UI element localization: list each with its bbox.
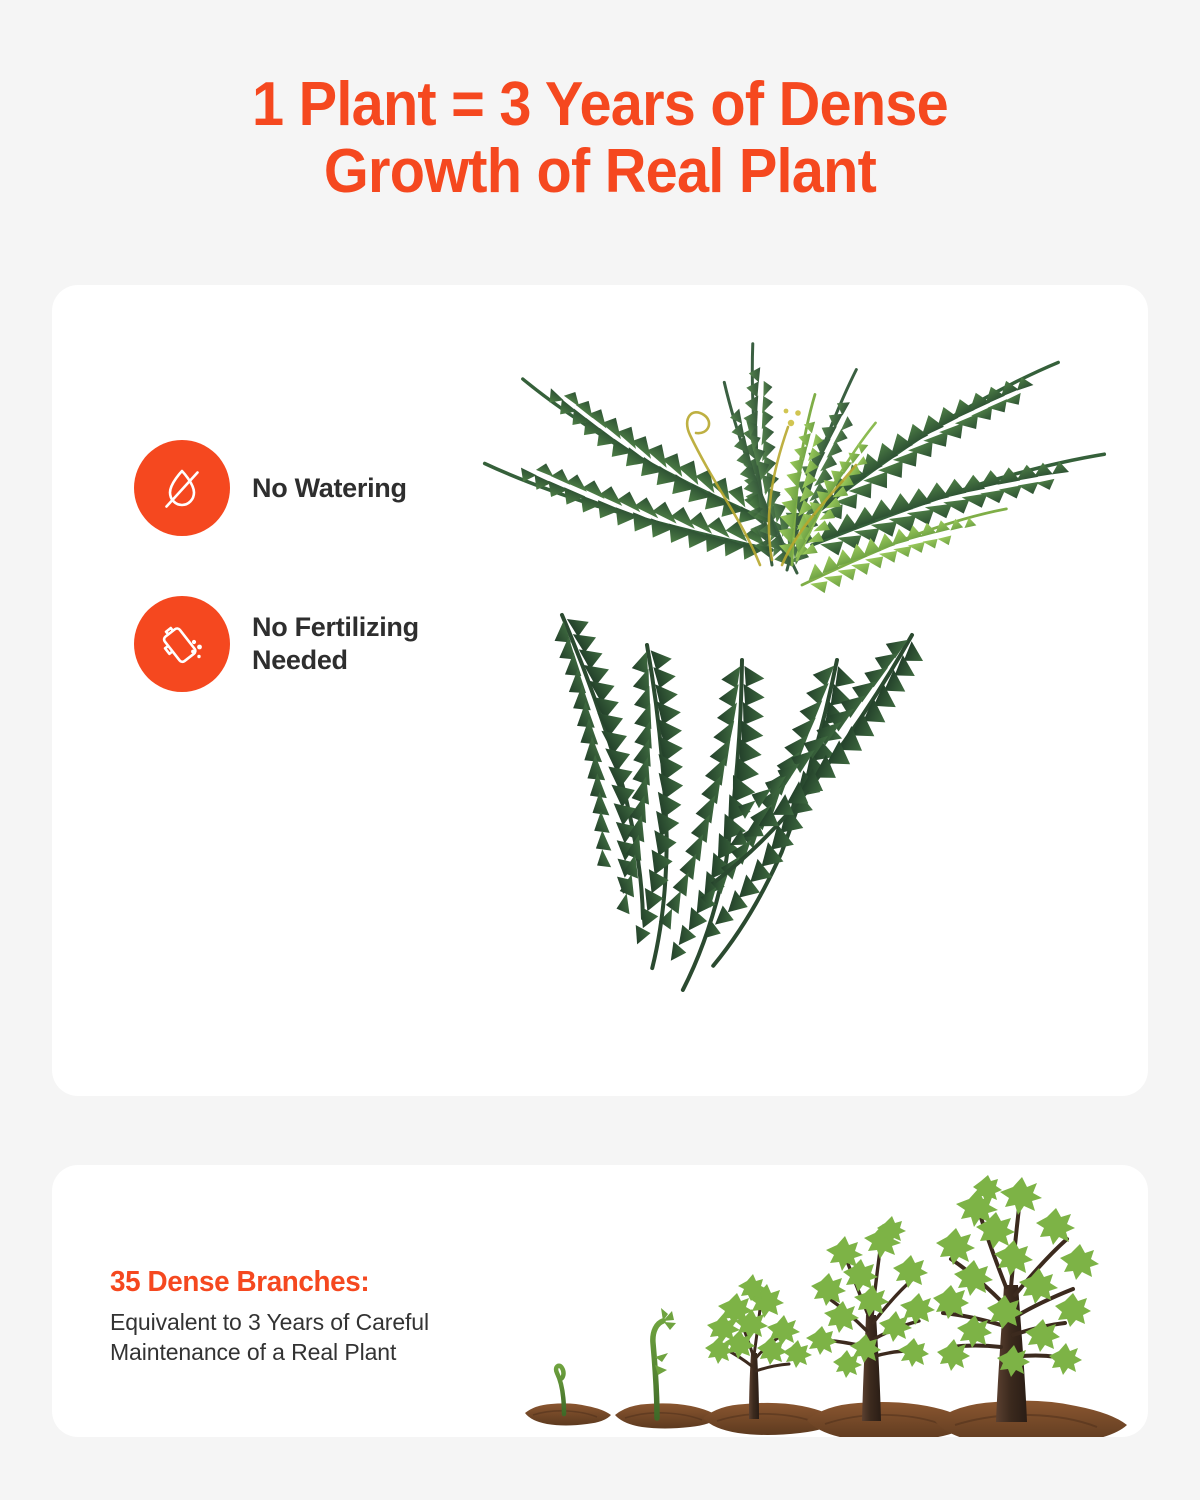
no-fertilizer-icon xyxy=(134,596,230,692)
feature-list: No Watering No xyxy=(134,440,494,692)
feature-label-no-fertilizing: No Fertilizing Needed xyxy=(252,611,419,677)
tree-growth-stages-illustration xyxy=(507,1175,1127,1437)
product-card: No Watering No xyxy=(52,285,1148,1096)
branches-headline: 35 Dense Branches: xyxy=(110,1265,494,1300)
feature-item-no-fertilizing: No Fertilizing Needed xyxy=(134,596,494,692)
branches-text-block: 35 Dense Branches: Equivalent to 3 Years… xyxy=(110,1265,510,1368)
branches-subtitle: Equivalent to 3 Years of Careful Mainten… xyxy=(110,1307,510,1368)
feature-label-no-watering: No Watering xyxy=(252,472,407,505)
infographic-page: 1 Plant = 3 Years of Dense Growth of Rea… xyxy=(0,0,1200,1500)
page-title-line-2: Growth of Real Plant xyxy=(42,139,1158,206)
no-water-drop-icon xyxy=(134,440,230,536)
branches-card: 35 Dense Branches: Equivalent to 3 Years… xyxy=(52,1165,1148,1437)
product-plant-image xyxy=(442,315,1132,1015)
page-title: 1 Plant = 3 Years of Dense Growth of Rea… xyxy=(42,72,1158,206)
page-title-line-1: 1 Plant = 3 Years of Dense xyxy=(42,72,1158,139)
feature-item-no-watering: No Watering xyxy=(134,440,494,536)
